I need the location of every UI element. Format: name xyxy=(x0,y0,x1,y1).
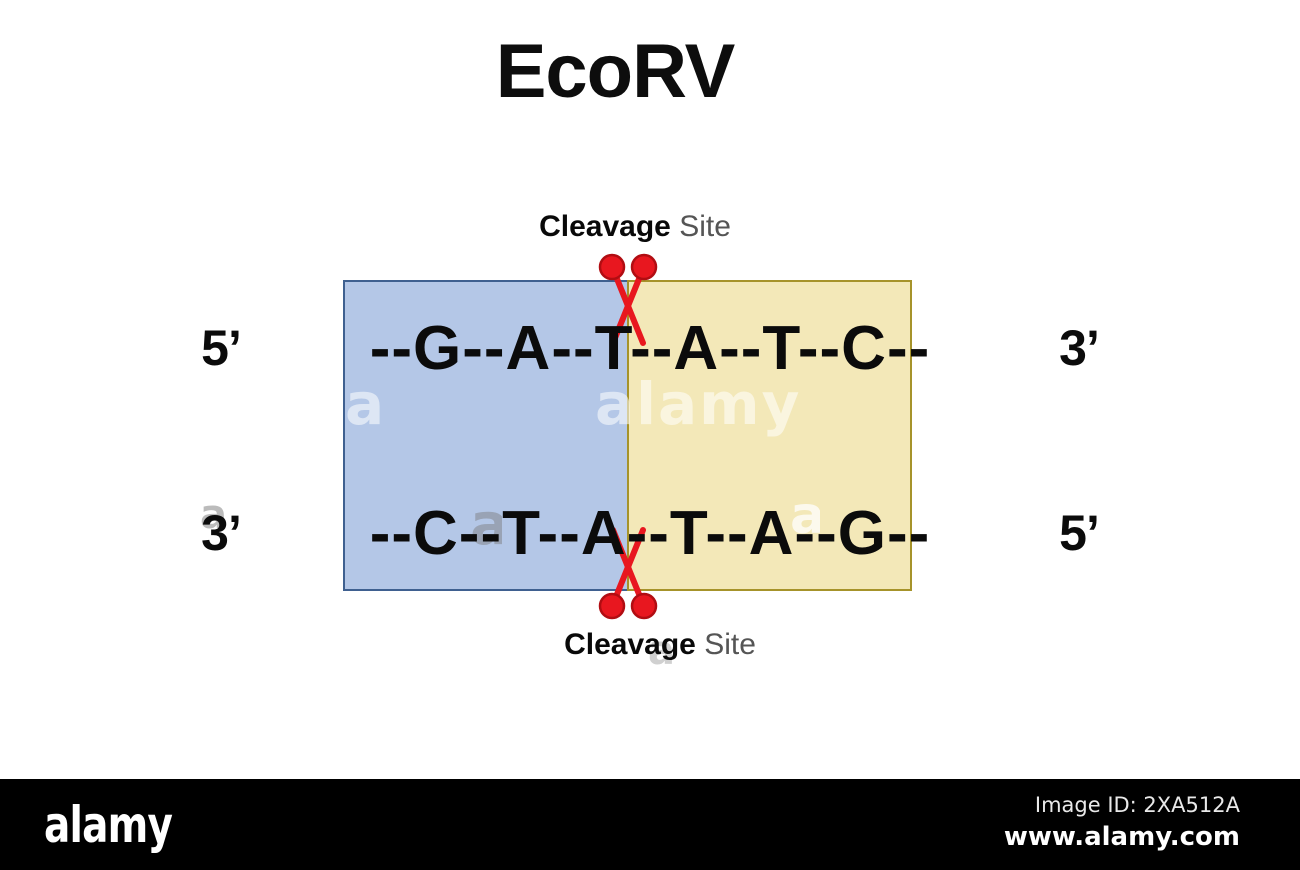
strand-bottom-right-end-label: 5’ xyxy=(1004,504,1154,562)
cleavage-label-bold-bottom: Cleavage xyxy=(564,628,696,661)
cleavage-site-label-bottom: Cleavage Site xyxy=(400,630,920,660)
strand-top-right-end-label: 3’ xyxy=(1004,319,1154,377)
strand-bottom-sequence: --C--T--A--T--A--G-- xyxy=(340,498,960,569)
dna-strand-bottom: 3’ --C--T--A--T--A--G-- 5’ xyxy=(0,488,1300,578)
strand-bottom-left-end-label: 3’ xyxy=(146,504,296,562)
dna-strand-top: 5’ --G--A--T--A--T--C-- 3’ xyxy=(0,303,1300,393)
cleavage-site-label-top: Cleavage Site xyxy=(375,212,895,242)
cleavage-label-light-bottom: Site xyxy=(696,628,756,661)
strand-top-sequence: --G--A--T--A--T--C-- xyxy=(340,313,960,384)
strand-top-left-end-label: 5’ xyxy=(146,319,296,377)
page-title: EcoRV xyxy=(0,34,1230,110)
alamy-logo: alamy xyxy=(44,800,172,850)
figure-canvas: EcoRV a alamy a a a a Cleavage Site xyxy=(0,0,1300,779)
alamy-url-text: www.alamy.com xyxy=(1004,822,1240,852)
cleavage-label-bold-top: Cleavage xyxy=(539,210,671,243)
image-id-text: Image ID: 2XA512A xyxy=(1035,793,1240,817)
cleavage-label-light-top: Site xyxy=(671,210,731,243)
